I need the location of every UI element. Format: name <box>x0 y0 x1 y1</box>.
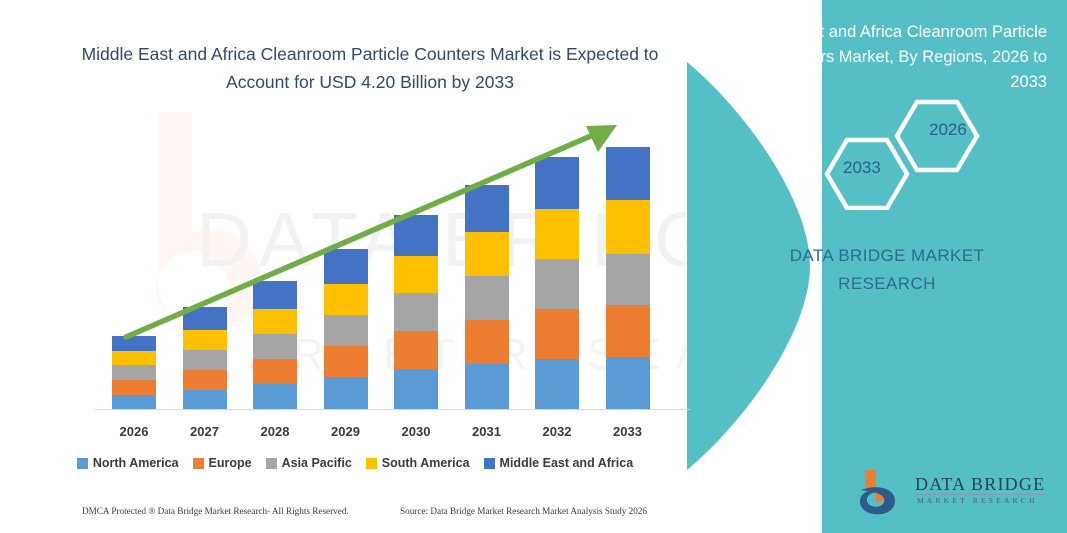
brand-name-text: DATA BRIDGE MARKET RESEARCH <box>727 242 1047 298</box>
bar-segment-2033-asia-pacific[interactable] <box>606 254 650 305</box>
bar-segment-2027-europe[interactable] <box>183 370 227 390</box>
x-axis-label-2030: 2030 <box>381 424 451 439</box>
legend-swatch-icon <box>366 458 377 469</box>
bar-segment-2029-north-america[interactable] <box>324 377 368 409</box>
panel-title: Middle East and Africa Cleanroom Particl… <box>727 20 1047 95</box>
bar-segment-2030-middle-east-and-africa[interactable] <box>394 215 438 256</box>
company-logo: DATA BRIDGE MARKET RESEARCH <box>857 468 1052 520</box>
chart-legend: North AmericaEuropeAsia PacificSouth Ame… <box>0 456 710 470</box>
bar-segment-2030-north-america[interactable] <box>394 369 438 409</box>
bar-2027[interactable] <box>183 307 227 409</box>
bar-segment-2032-north-america[interactable] <box>535 359 579 409</box>
bar-segment-2027-middle-east-and-africa[interactable] <box>183 307 227 330</box>
bar-segment-2032-europe[interactable] <box>535 309 579 359</box>
x-axis-label-2027: 2027 <box>170 424 240 439</box>
x-axis-label-2026: 2026 <box>99 424 169 439</box>
bar-segment-2026-asia-pacific[interactable] <box>112 365 156 380</box>
x-axis-label-2032: 2032 <box>522 424 592 439</box>
bar-segment-2026-south-america[interactable] <box>112 351 156 365</box>
legend-label: South America <box>382 456 470 470</box>
bar-segment-2033-europe[interactable] <box>606 305 650 357</box>
legend-item-middle-east-and-africa[interactable]: Middle East and Africa <box>484 456 634 470</box>
stacked-bar-plot: 20262027202820292030203120322033 <box>0 0 710 533</box>
bar-segment-2026-middle-east-and-africa[interactable] <box>112 336 156 351</box>
bar-segment-2031-asia-pacific[interactable] <box>465 276 509 320</box>
legend-swatch-icon <box>77 458 88 469</box>
bar-segment-2031-north-america[interactable] <box>465 364 509 409</box>
bar-2030[interactable] <box>394 215 438 409</box>
legend-item-south-america[interactable]: South America <box>366 456 470 470</box>
bar-segment-2029-europe[interactable] <box>324 346 368 377</box>
legend-swatch-icon <box>193 458 204 469</box>
legend-label: Europe <box>209 456 252 470</box>
bar-segment-2028-asia-pacific[interactable] <box>253 334 297 359</box>
legend-item-asia-pacific[interactable]: Asia Pacific <box>266 456 352 470</box>
hexagon-2026-label: 2026 <box>929 120 967 140</box>
bar-segment-2031-europe[interactable] <box>465 320 509 364</box>
bar-segment-2029-asia-pacific[interactable] <box>324 315 368 346</box>
bar-segment-2032-south-america[interactable] <box>535 209 579 259</box>
bar-2029[interactable] <box>324 249 368 409</box>
bar-segment-2028-north-america[interactable] <box>253 384 297 409</box>
bar-segment-2031-south-america[interactable] <box>465 232 509 276</box>
infographic-slide: DATA BRIDGE MARKET RESEARCH Middle East … <box>0 0 1067 533</box>
logo-primary-text: DATA BRIDGE <box>915 474 1045 495</box>
bar-2032[interactable] <box>535 157 579 409</box>
bar-2026[interactable] <box>112 336 156 409</box>
bar-2033[interactable] <box>606 147 650 409</box>
legend-label: Middle East and Africa <box>500 456 634 470</box>
brand-panel: Middle East and Africa Cleanroom Particl… <box>687 0 1067 533</box>
hexagon-year-group: 2026 2033 <box>807 98 1037 210</box>
x-axis-label-2033: 2033 <box>593 424 663 439</box>
chart-area: Middle East and Africa Cleanroom Particl… <box>0 0 710 533</box>
brand-name-line2: RESEARCH <box>838 274 936 293</box>
bar-segment-2027-asia-pacific[interactable] <box>183 350 227 370</box>
hexagon-2033-label: 2033 <box>843 158 881 178</box>
bar-segment-2028-middle-east-and-africa[interactable] <box>253 281 297 309</box>
bar-segment-2028-europe[interactable] <box>253 359 297 384</box>
logo-divider <box>916 494 1046 495</box>
bar-2028[interactable] <box>253 281 297 409</box>
logo-secondary-text: MARKET RESEARCH <box>917 496 1038 505</box>
bar-segment-2030-asia-pacific[interactable] <box>394 293 438 331</box>
bar-segment-2033-south-america[interactable] <box>606 200 650 254</box>
x-axis-line <box>95 409 690 410</box>
footer-source: Source: Data Bridge Market Research Mark… <box>400 506 647 516</box>
data-bridge-b-mark-icon <box>857 468 913 516</box>
bar-segment-2033-north-america[interactable] <box>606 357 650 409</box>
bar-segment-2032-asia-pacific[interactable] <box>535 259 579 309</box>
bar-segment-2030-south-america[interactable] <box>394 256 438 293</box>
bar-2031[interactable] <box>465 185 509 409</box>
hexagon-shapes-icon <box>807 98 1037 210</box>
bar-segment-2030-europe[interactable] <box>394 331 438 369</box>
footer-copyright: DMCA Protected ® Data Bridge Market Rese… <box>82 506 349 516</box>
bar-segment-2027-north-america[interactable] <box>183 390 227 409</box>
legend-swatch-icon <box>266 458 277 469</box>
bar-segment-2029-middle-east-and-africa[interactable] <box>324 249 368 284</box>
bar-segment-2033-middle-east-and-africa[interactable] <box>606 147 650 200</box>
legend-item-europe[interactable]: Europe <box>193 456 252 470</box>
bar-segment-2031-middle-east-and-africa[interactable] <box>465 185 509 232</box>
bar-segment-2026-north-america[interactable] <box>112 395 156 409</box>
bar-segment-2029-south-america[interactable] <box>324 284 368 315</box>
x-axis-label-2028: 2028 <box>240 424 310 439</box>
x-axis-label-2029: 2029 <box>311 424 381 439</box>
legend-swatch-icon <box>484 458 495 469</box>
bar-segment-2028-south-america[interactable] <box>253 309 297 334</box>
legend-label: North America <box>93 456 179 470</box>
brand-name-line1: DATA BRIDGE MARKET <box>790 246 985 265</box>
legend-label: Asia Pacific <box>282 456 352 470</box>
bar-segment-2032-middle-east-and-africa[interactable] <box>535 157 579 209</box>
bar-segment-2027-south-america[interactable] <box>183 330 227 350</box>
bar-segment-2026-europe[interactable] <box>112 380 156 395</box>
legend-item-north-america[interactable]: North America <box>77 456 179 470</box>
x-axis-label-2031: 2031 <box>452 424 522 439</box>
